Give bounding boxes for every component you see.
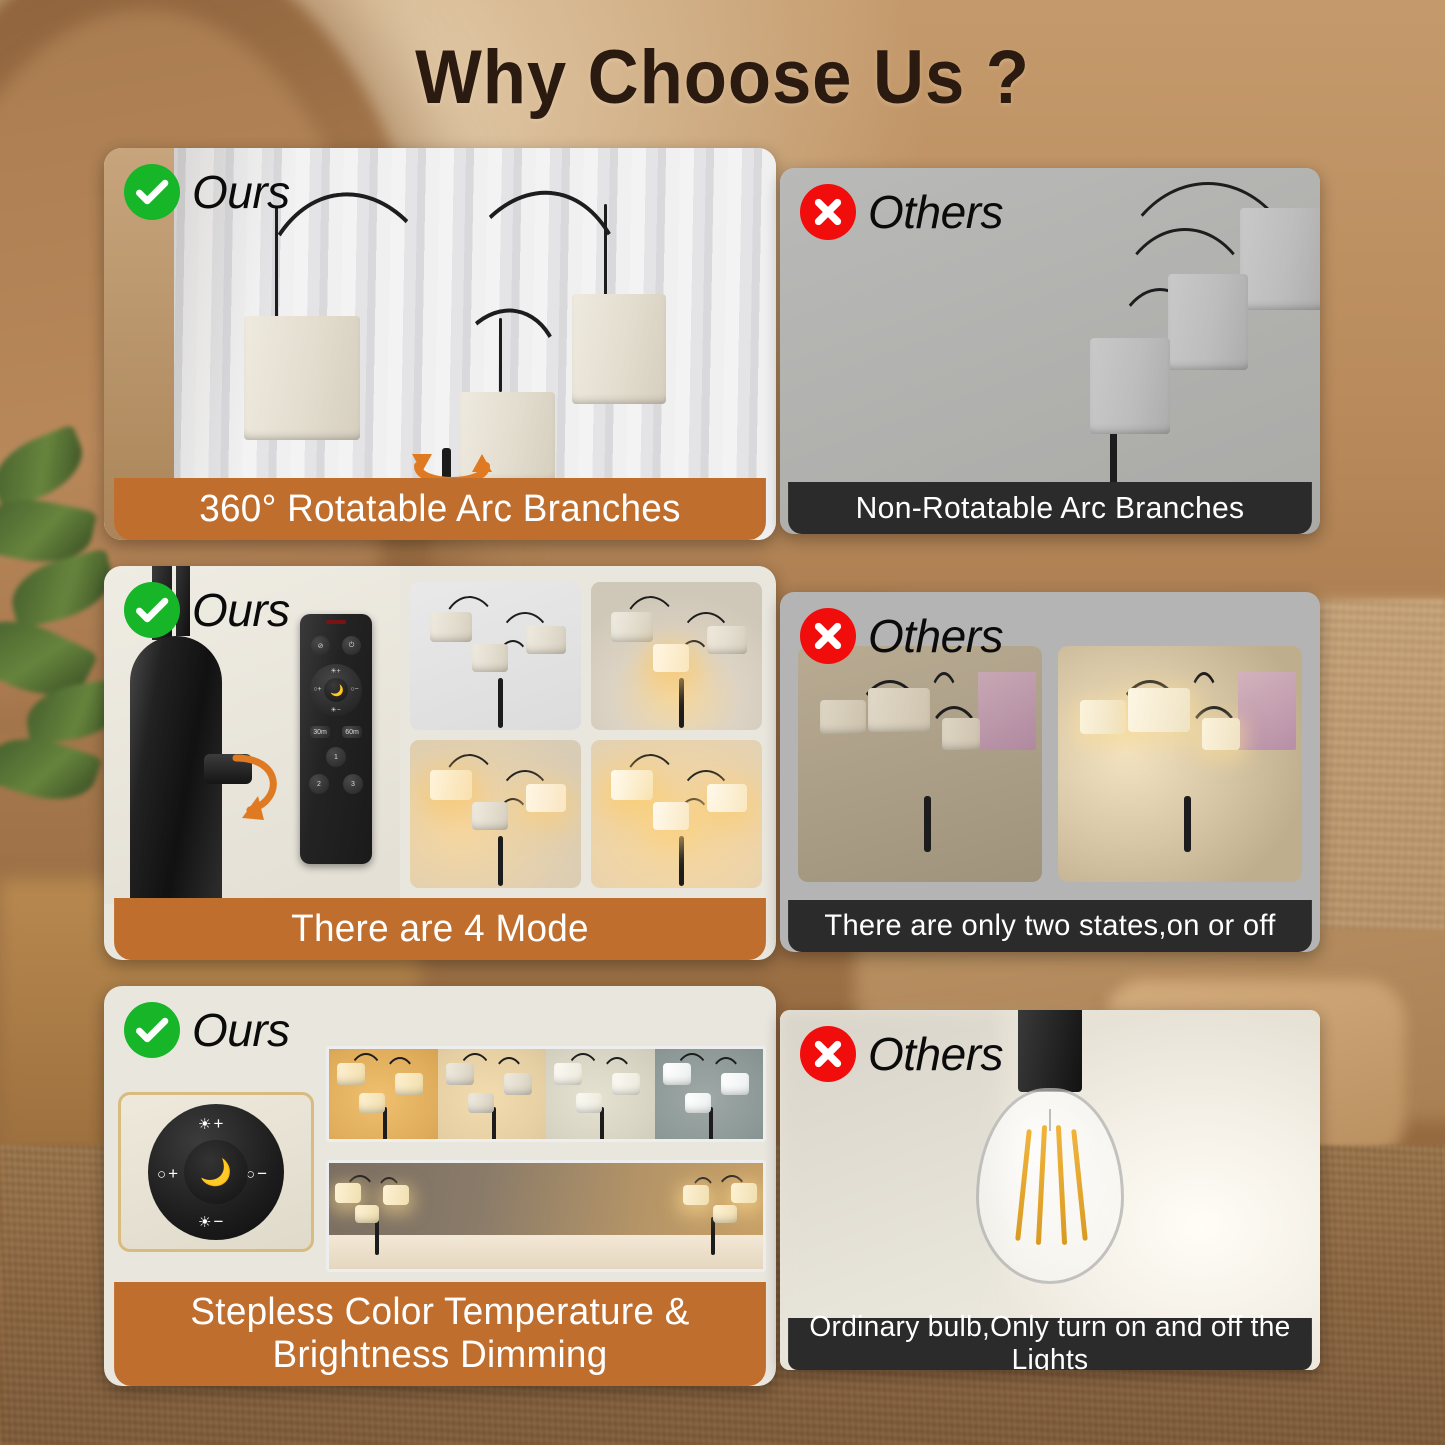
panel-ours-dimming: ☀+ ○+ ○− ☀− 🌙	[104, 986, 776, 1386]
living-room-photo	[326, 1160, 766, 1272]
mode-photo-all-lit	[591, 740, 762, 888]
others-badge-row-3: Others	[780, 1010, 1003, 1082]
ct-photo-cool	[655, 1049, 764, 1139]
bulb-filament	[1056, 1125, 1067, 1245]
ct-photo-warm	[329, 1049, 438, 1139]
lamp-shade-bottom	[1090, 338, 1170, 434]
lamp-shade-right	[572, 294, 666, 404]
state-photo-on	[1058, 646, 1302, 882]
color-temperature-strip	[326, 1046, 766, 1142]
remote-light-2-button[interactable]: 2	[309, 774, 329, 794]
remote-timer-60-button[interactable]: 60m	[342, 726, 362, 738]
others-label: Others	[868, 1031, 1003, 1077]
remote-circle-plus-icon: ○+	[311, 684, 324, 695]
remote-control: ⊘ ⏻ ☀+ ○+ ○− ☀− 🌙 30m 60m 1 2 3	[300, 614, 372, 864]
ours-badge-row-1: Ours	[104, 148, 290, 220]
circle-minus-icon: ○−	[246, 1164, 267, 1184]
caption-line-2: Brightness Dimming	[272, 1334, 607, 1377]
bulb-stem	[1049, 1109, 1051, 1131]
panel-others-rotation: Others Non-Rotatable Arc Branches	[780, 168, 1320, 534]
wall-art	[978, 672, 1036, 750]
caption-others-dimming: Ordinary bulb,Only turn on and off the L…	[788, 1318, 1312, 1370]
ct-photo-neutral	[546, 1049, 655, 1139]
ours-label: Ours	[192, 1007, 290, 1053]
ours-badge-row-3: Ours	[104, 986, 290, 1058]
others-label: Others	[868, 189, 1003, 235]
control-dial[interactable]: ☀+ ○+ ○− ☀− 🌙	[148, 1104, 284, 1240]
two-state-photos	[798, 646, 1302, 882]
caption-others-modes: There are only two states,on or off	[788, 900, 1312, 952]
bulb-filament	[1015, 1129, 1032, 1241]
sun-minus-icon: ☀−	[198, 1212, 223, 1232]
check-icon	[124, 164, 180, 220]
cross-icon	[800, 608, 856, 664]
cross-icon	[800, 184, 856, 240]
caption-others-rotation: Non-Rotatable Arc Branches	[788, 482, 1312, 534]
remote-timer-30-button[interactable]: 30m	[310, 726, 330, 738]
bulb-socket	[1018, 1010, 1082, 1092]
lamp-shade-left	[244, 316, 360, 440]
ours-label: Ours	[192, 169, 290, 215]
mode-photo-one-lit	[591, 582, 762, 730]
remote-circle-minus-icon: ○−	[348, 684, 361, 695]
check-icon	[124, 582, 180, 638]
page-title: Why Choose Us ?	[51, 34, 1395, 121]
sun-plus-icon: ☀+	[198, 1114, 223, 1134]
panel-others-modes: Others There are only two states,on or o…	[780, 592, 1320, 952]
mode-photo-all-off	[410, 582, 581, 730]
lamp-wire-left	[275, 206, 278, 318]
ours-badge-row-2: Ours	[104, 566, 290, 638]
control-dial-photo: ☀+ ○+ ○− ☀− 🌙	[118, 1092, 314, 1252]
bulb-filament	[1036, 1125, 1047, 1245]
remote-light-3-button[interactable]: 3	[343, 774, 363, 794]
panel-ours-rotation: Ours 360° Rotatable Arc Branches	[104, 148, 776, 540]
lamp-shade-top	[1240, 208, 1320, 310]
others-label: Others	[868, 613, 1003, 659]
remote-sun-plus-icon: ☀+	[329, 665, 342, 676]
ir-indicator	[326, 620, 346, 624]
check-icon	[124, 1002, 180, 1058]
state-photo-off	[798, 646, 1042, 882]
caption-ours-dimming: Stepless Color Temperature & Brightness …	[114, 1282, 766, 1386]
mode-photo-grid	[410, 582, 762, 888]
moon-icon: 🌙	[330, 684, 344, 697]
lamp-shade-middle	[1168, 274, 1248, 370]
mode-photo-two-lit	[410, 740, 581, 888]
remote-sun-minus-icon: ☀−	[329, 704, 342, 715]
cross-icon	[800, 1026, 856, 1082]
caption-ours-rotation: 360° Rotatable Arc Branches	[114, 478, 766, 540]
ct-photo-warm-white	[438, 1049, 547, 1139]
wall-art	[1238, 672, 1296, 750]
remote-mute-button[interactable]: ⊘	[311, 636, 330, 655]
caption-ours-modes: There are 4 Mode	[114, 898, 766, 960]
others-badge-row-1: Others	[780, 168, 1003, 240]
moon-stars-icon: 🌙	[200, 1159, 232, 1185]
panel-others-dimming: Others Ordinary bulb,Only turn on and of…	[780, 1010, 1320, 1370]
remote-power-button[interactable]: ⏻	[342, 636, 361, 655]
sofa	[329, 1235, 763, 1269]
ours-label: Ours	[192, 587, 290, 633]
lamp-wire-middle	[499, 318, 502, 392]
night-mode-button[interactable]: 🌙	[184, 1140, 248, 1204]
panel-ours-modes: ⊘ ⏻ ☀+ ○+ ○− ☀− 🌙 30m 60m 1 2 3	[104, 566, 776, 960]
rotate-arrow-icon	[224, 744, 294, 830]
lamp-wire-right	[604, 204, 607, 296]
caption-line-1: Stepless Color Temperature &	[190, 1291, 689, 1334]
circle-plus-icon: ○+	[157, 1164, 178, 1184]
bulb-filament	[1071, 1129, 1088, 1241]
bulb-glass	[976, 1088, 1124, 1284]
remote-light-1-button[interactable]: 1	[326, 747, 346, 767]
others-badge-row-2: Others	[780, 592, 1003, 664]
